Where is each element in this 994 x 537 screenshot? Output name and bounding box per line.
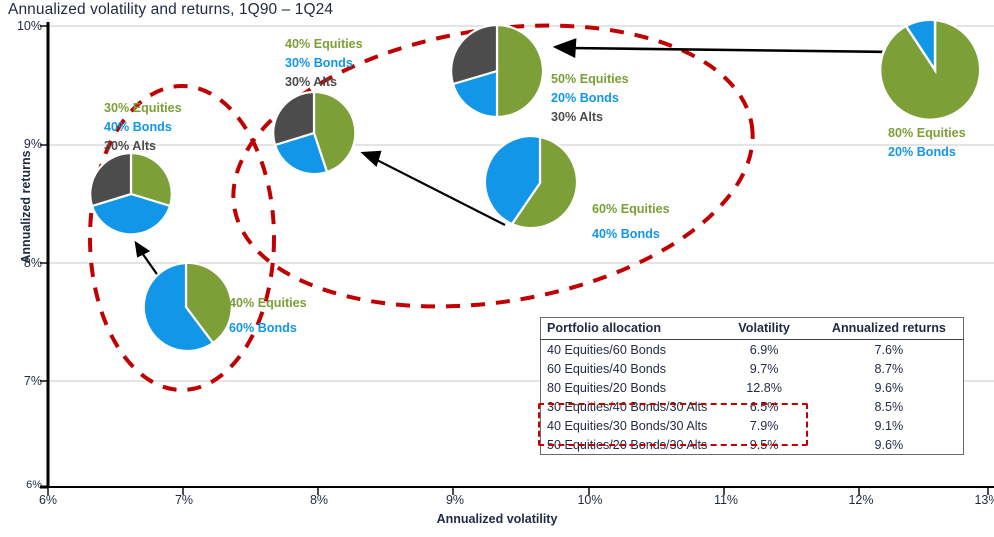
callout-equities-label: 30% Equities <box>104 99 182 118</box>
callout-equities-label: 40% Equities <box>285 35 363 54</box>
cell-returns: 8.5% <box>815 397 964 416</box>
callout-bonds-label: 30% Bonds <box>285 54 363 73</box>
pie-50-20-30 <box>451 25 543 117</box>
cell-allocation: 30 Equities/40 Bonds/30 Alts <box>541 397 714 416</box>
callout-30-40-30: 30% Equities 40% Bonds 30% Alts <box>104 99 182 156</box>
callout-alts-label: 30% Alts <box>551 108 629 127</box>
callout-alts-label: 30% Alts <box>104 137 182 156</box>
cell-returns: 9.6% <box>815 378 964 397</box>
cell-volatility: 6.9% <box>713 340 814 360</box>
callout-40-60: 40% Equities 60% Bonds <box>229 294 307 338</box>
callout-bonds-label: 20% Bonds <box>551 89 629 108</box>
table-header-row: Portfolio allocation Volatility Annualiz… <box>541 318 964 340</box>
cell-returns: 8.7% <box>815 359 964 378</box>
table-row: 80 Equities/20 Bonds 12.8% 9.6% <box>541 378 964 397</box>
cell-returns: 7.6% <box>815 340 964 360</box>
callout-60-40: 60% Equities 40% Bonds <box>592 200 670 244</box>
callout-50-20-30: 50% Equities 20% Bonds 30% Alts <box>551 70 629 127</box>
cell-volatility: 6.5% <box>713 397 814 416</box>
table-row: 30 Equities/40 Bonds/30 Alts 6.5% 8.5% <box>541 397 964 416</box>
cell-volatility: 12.8% <box>713 378 814 397</box>
callout-bonds-label: 60% Bonds <box>229 319 307 338</box>
cell-allocation: 40 Equities/60 Bonds <box>541 340 714 360</box>
pie-30-40-30 <box>90 153 172 234</box>
table-row: 40 Equities/60 Bonds 6.9% 7.6% <box>541 340 964 360</box>
portfolio-allocation-table: Portfolio allocation Volatility Annualiz… <box>540 317 964 455</box>
callout-equities-label: 50% Equities <box>551 70 629 89</box>
cell-allocation: 40 Equities/30 Bonds/30 Alts <box>541 416 714 435</box>
plot-svg <box>0 0 994 537</box>
callout-equities-label: 60% Equities <box>592 200 670 219</box>
cell-returns: 9.6% <box>815 435 964 455</box>
callout-bonds-label: 40% Bonds <box>104 118 182 137</box>
callout-equities-label: 80% Equities <box>888 124 966 143</box>
table-row: 50 Equities/20 Bonds/30 Alts 9.5% 9.6% <box>541 435 964 455</box>
th-volatility: Volatility <box>713 318 814 340</box>
pie-40-60 <box>144 263 232 351</box>
callout-bonds-label: 20% Bonds <box>888 143 966 162</box>
cell-allocation: 50 Equities/20 Bonds/30 Alts <box>541 435 714 455</box>
cell-returns: 9.1% <box>815 416 964 435</box>
table-row: 40 Equities/30 Bonds/30 Alts 7.9% 9.1% <box>541 416 964 435</box>
cell-volatility: 7.9% <box>713 416 814 435</box>
arrow-to-50-20-30-pie <box>556 40 895 56</box>
chart-canvas: Annualized volatility and returns, 1Q90 … <box>0 0 994 537</box>
callout-bonds-label: 40% Bonds <box>592 225 670 244</box>
th-returns: Annualized returns <box>815 318 964 340</box>
pie-60-40 <box>485 136 577 228</box>
cell-allocation: 80 Equities/20 Bonds <box>541 378 714 397</box>
callout-80-20: 80% Equities 20% Bonds <box>888 124 966 162</box>
callout-alts-label: 30% Alts <box>285 73 363 92</box>
cell-allocation: 60 Equities/40 Bonds <box>541 359 714 378</box>
callout-equities-label: 40% Equities <box>229 294 307 313</box>
pie-80-20 <box>880 20 980 120</box>
arrow-to-40-30-30-pie <box>363 152 505 225</box>
cell-volatility: 9.7% <box>713 359 814 378</box>
pie-40-30-30 <box>273 92 355 174</box>
table-row: 60 Equities/40 Bonds 9.7% 8.7% <box>541 359 964 378</box>
callout-40-30-30: 40% Equities 30% Bonds 30% Alts <box>285 35 363 92</box>
th-allocation: Portfolio allocation <box>541 318 714 340</box>
cell-volatility: 9.5% <box>713 435 814 455</box>
